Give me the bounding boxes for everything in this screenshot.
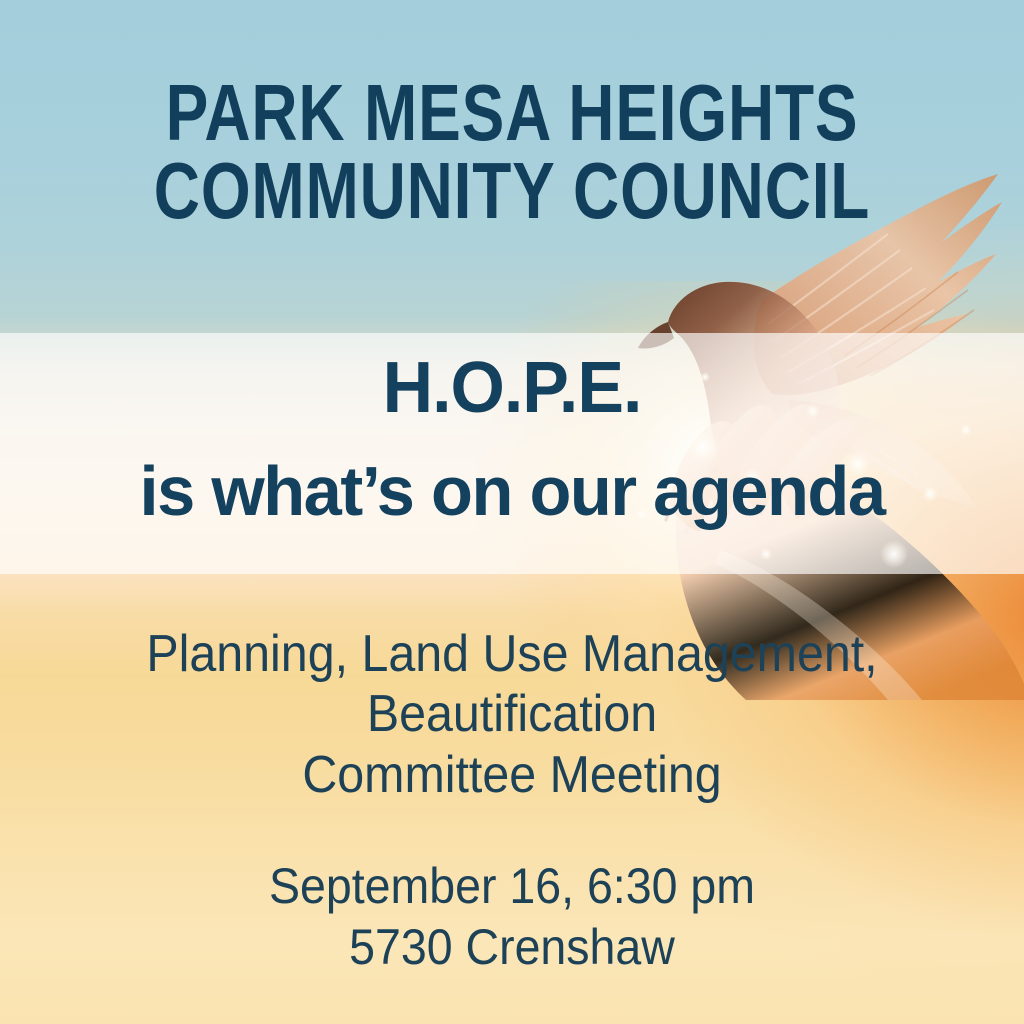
- hope-acronym: H.O.P.E.: [15, 352, 1008, 424]
- meeting-address: 5730 Crenshaw: [36, 917, 988, 978]
- organization-title: PARK MESA HEIGHTS COMMUNITY COUNCIL: [102, 74, 921, 231]
- meeting-title-line3: Committee Meeting: [36, 745, 988, 805]
- meeting-title-line1: Planning, Land Use Management,: [36, 624, 988, 684]
- theme-block: H.O.P.E. is what’s on our agenda: [0, 352, 1024, 526]
- meeting-title-line2: Beautification: [36, 684, 988, 744]
- org-title-line1: PARK MESA HEIGHTS: [166, 68, 859, 157]
- meeting-datetime: September 16, 6:30 pm: [36, 856, 988, 917]
- hope-tagline: is what’s on our agenda: [10, 456, 1014, 526]
- org-title-line2: COMMUNITY COUNCIL: [102, 152, 921, 230]
- flyer-poster: PARK MESA HEIGHTS COMMUNITY COUNCIL H.O.…: [0, 0, 1024, 1024]
- meeting-details: September 16, 6:30 pm 5730 Crenshaw: [36, 856, 988, 978]
- meeting-title: Planning, Land Use Management, Beautific…: [36, 624, 988, 805]
